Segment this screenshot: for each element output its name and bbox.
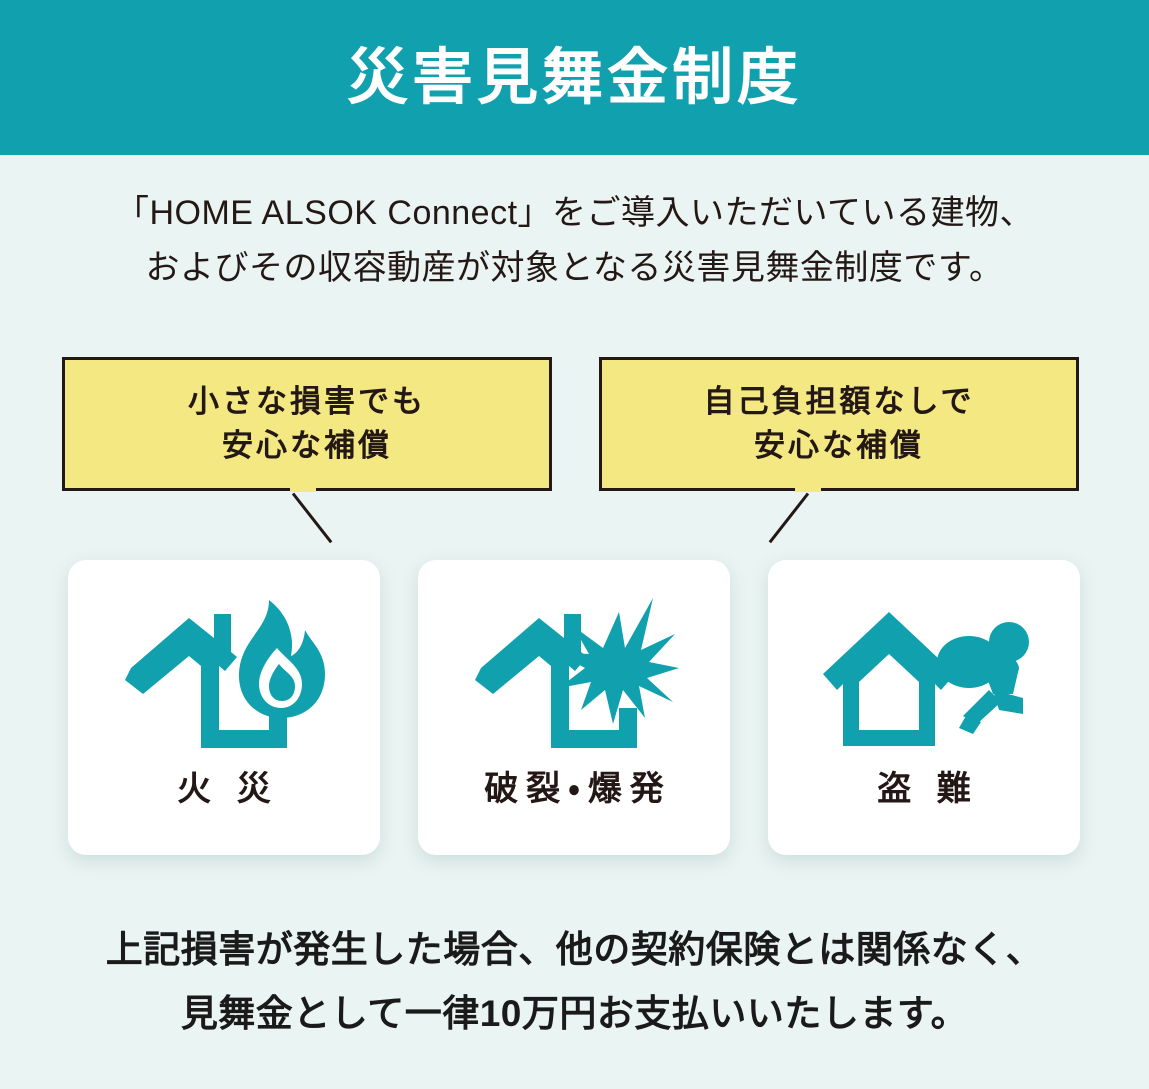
callout-no-deductible-line-2: 安心な補償: [754, 424, 924, 468]
house-with-flame-icon: [119, 590, 329, 755]
card-explosion-label: 破裂・爆発: [476, 761, 672, 810]
card-theft: 盗 難: [768, 560, 1080, 855]
callout-no-deductible: 自己負担額なしで 安心な補償: [599, 357, 1079, 491]
callout-no-deductible-pointer-line: [769, 493, 810, 544]
callout-small-damage-line-2: 安心な補償: [222, 424, 392, 468]
header-banner: 災害見舞金制度: [0, 0, 1149, 155]
intro-paragraph: 「HOME ALSOK Connect」をご導入いただいている建物、 およびその…: [0, 186, 1149, 296]
house-with-explosion-icon: [469, 590, 679, 755]
card-fire: 火 災: [68, 560, 380, 855]
footer-line-2: 見舞金として一律10万円お支払いいたします。: [0, 982, 1149, 1046]
card-fire-label: 火 災: [169, 761, 278, 810]
callout-no-deductible-pointer-notch: [795, 487, 821, 492]
card-theft-label: 盗 難: [869, 761, 978, 810]
callout-small-damage-pointer-line: [292, 493, 333, 544]
intro-line-1: 「HOME ALSOK Connect」をご導入いただいている建物、: [0, 186, 1149, 241]
footer-note: 上記損害が発生した場合、他の契約保険とは関係なく、 見舞金として一律10万円お支…: [0, 918, 1149, 1045]
intro-line-2: およびその収容動産が対象となる災害見舞金制度です。: [0, 241, 1149, 296]
card-explosion: 破裂・爆発: [418, 560, 730, 855]
callout-small-damage-line-1: 小さな損害でも: [188, 380, 426, 424]
house-with-burglar-icon: [817, 590, 1032, 755]
footer-line-1: 上記損害が発生した場合、他の契約保険とは関係なく、: [0, 918, 1149, 982]
callout-no-deductible-line-1: 自己負担額なしで: [703, 380, 974, 424]
callout-small-damage: 小さな損害でも 安心な補償: [62, 357, 552, 491]
page-title: 災害見舞金制度: [347, 47, 802, 108]
infographic-page: 災害見舞金制度 「HOME ALSOK Connect」をご導入いただいている建…: [0, 0, 1149, 1089]
